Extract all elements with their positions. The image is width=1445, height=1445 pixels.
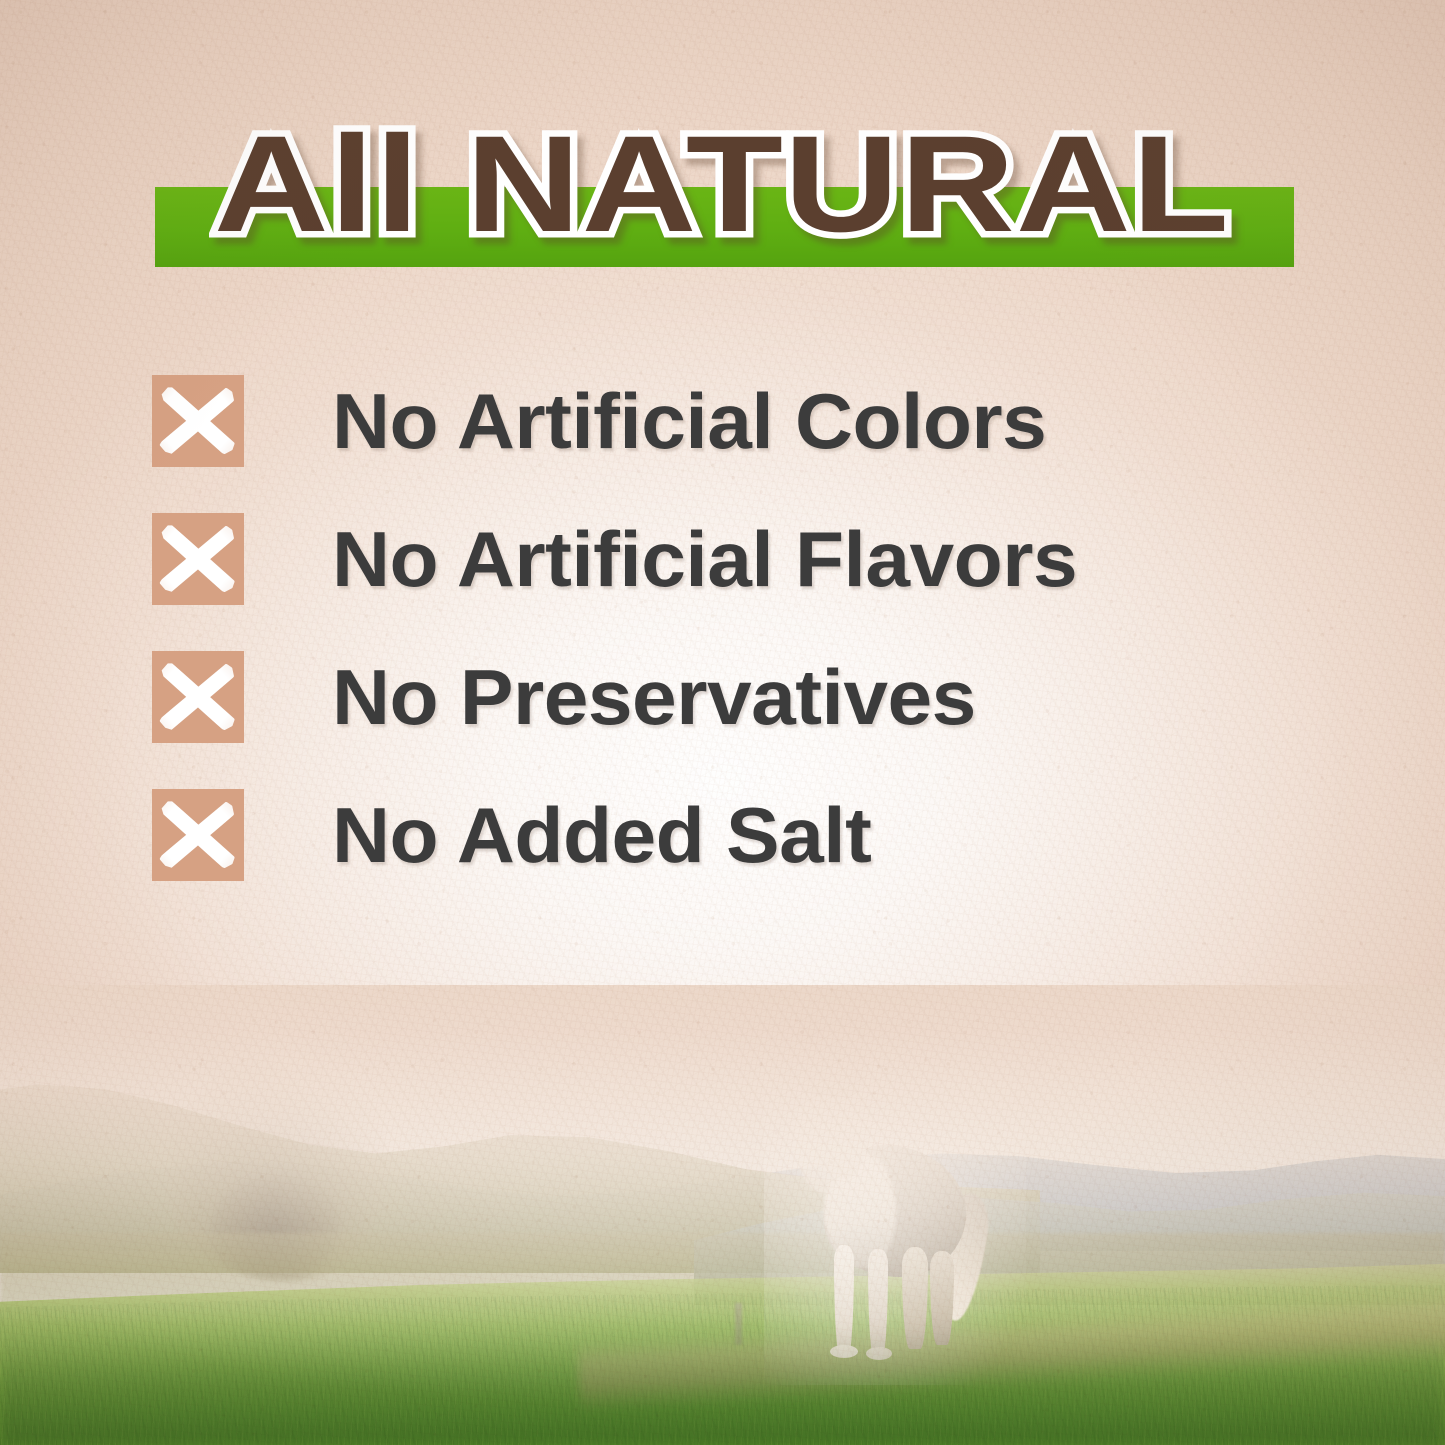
border-collie-dog: [780, 997, 1008, 1369]
landscape-photo: [0, 985, 1445, 1445]
x-mark-icon: [152, 513, 244, 605]
all-natural-poster: All NATURAL No Artificial Colors No Arti…: [0, 0, 1445, 1445]
benefit-list: No Artificial Colors No Artificial Flavo…: [152, 375, 1332, 927]
list-item-label: No Artificial Colors: [332, 382, 1046, 460]
list-item: No Added Salt: [152, 789, 1332, 881]
grass-shadow: [0, 1327, 1445, 1445]
list-item-label: No Added Salt: [332, 796, 871, 874]
list-item: No Preservatives: [152, 651, 1332, 743]
x-mark-icon: [152, 651, 244, 743]
list-item: No Artificial Flavors: [152, 513, 1332, 605]
x-mark-icon: [152, 375, 244, 467]
list-item: No Artificial Colors: [152, 375, 1332, 467]
list-item-label: No Preservatives: [332, 658, 976, 736]
list-item-label: No Artificial Flavors: [332, 520, 1077, 598]
headline-banner: [155, 187, 1294, 267]
x-mark-icon: [152, 789, 244, 881]
